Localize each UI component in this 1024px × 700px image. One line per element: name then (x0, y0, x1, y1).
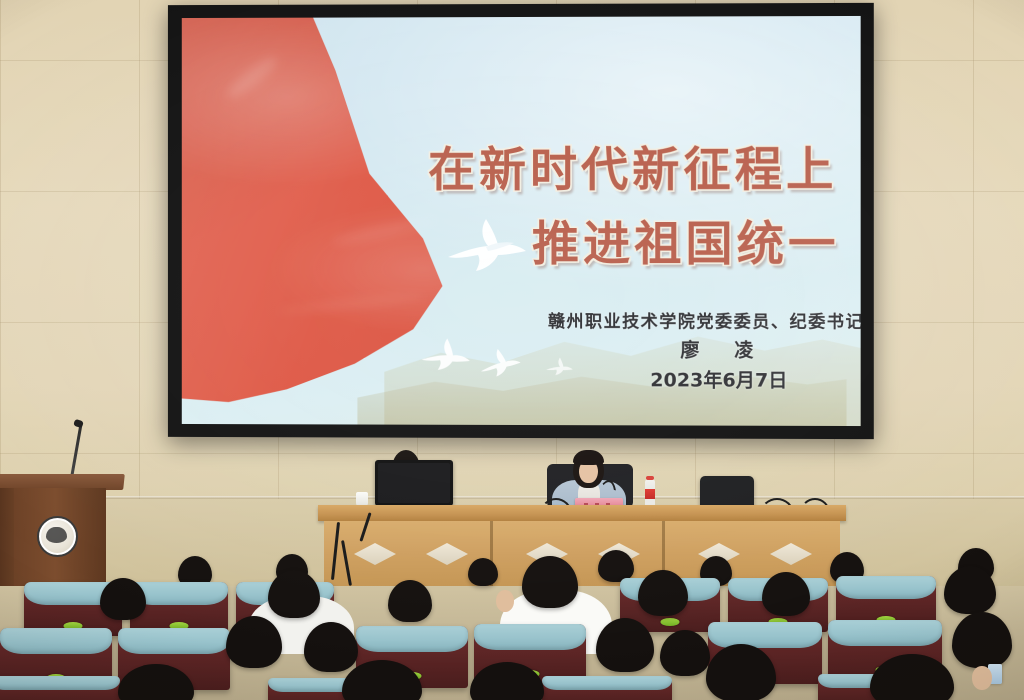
speaker-hair (573, 450, 604, 465)
seat-number-badge (661, 618, 680, 626)
monitor-left-screen (378, 463, 450, 503)
monitor-left (375, 460, 453, 506)
school-crest-icon (37, 516, 78, 557)
slide-subtitle-organization: 赣州职业技术学院党委委员、纪委书记 (548, 307, 861, 333)
seat-cushion (708, 622, 822, 648)
auditorium-seat[interactable] (0, 676, 120, 700)
seat-cushion (828, 620, 942, 646)
water-bottle-label (645, 489, 655, 499)
projection-screen: 在新时代新征程上 推进祖国统一 赣州职业技术学院党委委员、纪委书记 廖 凌 20… (182, 16, 861, 426)
audience-head (468, 558, 498, 586)
seat-cushion (118, 628, 230, 654)
audience-head (100, 578, 146, 620)
audience-hand (972, 666, 992, 690)
audience-head (660, 630, 710, 676)
seat-cushion (0, 676, 120, 690)
seat-cushion (836, 576, 936, 599)
slide-subtitle-speaker-name: 廖 凌 (680, 335, 767, 362)
audience-head (388, 580, 432, 622)
water-bottle-cap (646, 476, 654, 480)
seat-cushion (356, 626, 468, 652)
slide-title-line-1: 在新时代新征程上 (428, 131, 837, 200)
auditorium-seat[interactable] (542, 676, 672, 700)
seat-cushion (474, 624, 586, 650)
head-table-top (318, 505, 846, 521)
audience-hand (496, 590, 514, 612)
slide-text-block: 在新时代新征程上 推进祖国统一 赣州职业技术学院党委委员、纪委书记 廖 凌 20… (182, 16, 861, 426)
slide-title-line-2: 推进祖国统一 (532, 205, 839, 274)
projection-screen-frame: 在新时代新征程上 推进祖国统一 赣州职业技术学院党委委员、纪委书记 廖 凌 20… (168, 3, 874, 439)
seat-cushion (0, 628, 112, 654)
slide-subtitle-date: 2023年6月7日 (650, 365, 787, 392)
lecture-hall-photo: 在新时代新征程上 推进祖国统一 赣州职业技术学院党委委员、纪委书记 廖 凌 20… (0, 0, 1024, 700)
seat-cushion (542, 676, 672, 690)
audience-head (638, 570, 688, 616)
audience-head (762, 572, 810, 616)
